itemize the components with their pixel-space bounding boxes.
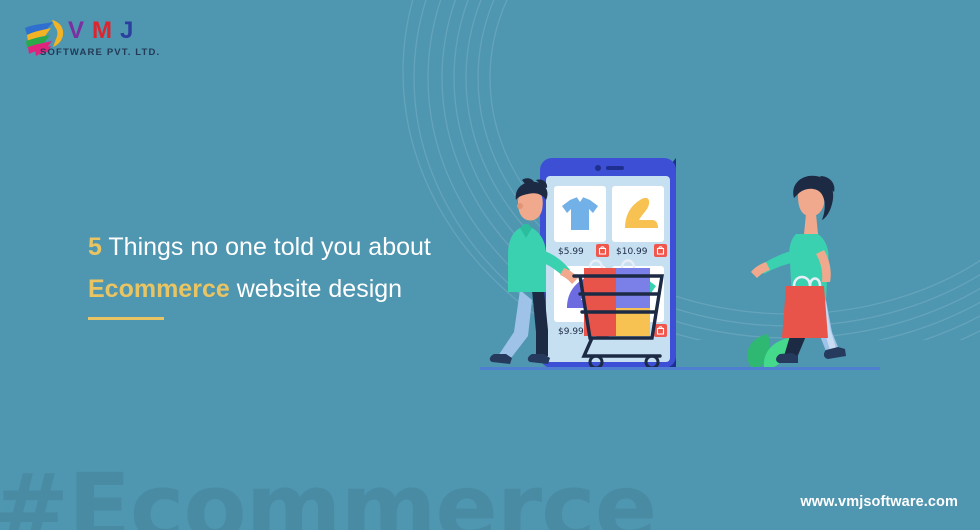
headline-keyword: Ecommerce bbox=[88, 275, 230, 303]
phone-camera-dot-icon bbox=[595, 165, 601, 171]
logo-letter-v: V bbox=[68, 17, 92, 44]
logo-tagline: SOFTWARE PVT. LTD. bbox=[40, 47, 160, 58]
ecommerce-mobile-shopping-illustration: $5.99 $10.99 bbox=[480, 150, 880, 380]
add-to-cart-icon[interactable] bbox=[654, 324, 667, 337]
banner-canvas: #Ecommerce VMJ SOFTWARE PVT. LTD. 5 Thin… bbox=[0, 0, 980, 530]
headline-line-1-text: Things no one told you about bbox=[102, 233, 431, 261]
headline-line-2: Ecommerce website design bbox=[88, 268, 508, 310]
phone-speaker-slot-icon bbox=[606, 166, 624, 170]
headline-line-1: 5 Things no one told you about bbox=[88, 226, 508, 268]
headline-underline-rule bbox=[88, 317, 164, 320]
product-price-1: $5.99 bbox=[558, 247, 584, 257]
product-price-2: $10.99 bbox=[616, 247, 648, 257]
shopping-bag-red bbox=[782, 277, 828, 338]
add-to-cart-icon[interactable] bbox=[596, 244, 609, 257]
headline-number: 5 bbox=[88, 233, 102, 261]
add-to-cart-icon[interactable] bbox=[654, 244, 667, 257]
product-card-2[interactable]: $10.99 bbox=[612, 186, 667, 257]
product-card-1[interactable]: $5.99 bbox=[554, 186, 609, 257]
product-price-3: $9.99 bbox=[558, 327, 584, 337]
headline-block: 5 Things no one told you about Ecommerce… bbox=[88, 226, 508, 310]
logo-letter-m: M bbox=[92, 17, 120, 44]
ground-line bbox=[480, 367, 880, 370]
logo-lettermark: VMJ bbox=[68, 19, 141, 43]
headline-line-2-text: website design bbox=[230, 275, 402, 303]
hashtag-watermark: #Ecommerce bbox=[0, 462, 656, 530]
logo-letter-j: J bbox=[120, 17, 141, 44]
website-url[interactable]: www.vmjsoftware.com bbox=[800, 494, 958, 510]
brand-logo[interactable]: VMJ SOFTWARE PVT. LTD. bbox=[22, 14, 212, 66]
